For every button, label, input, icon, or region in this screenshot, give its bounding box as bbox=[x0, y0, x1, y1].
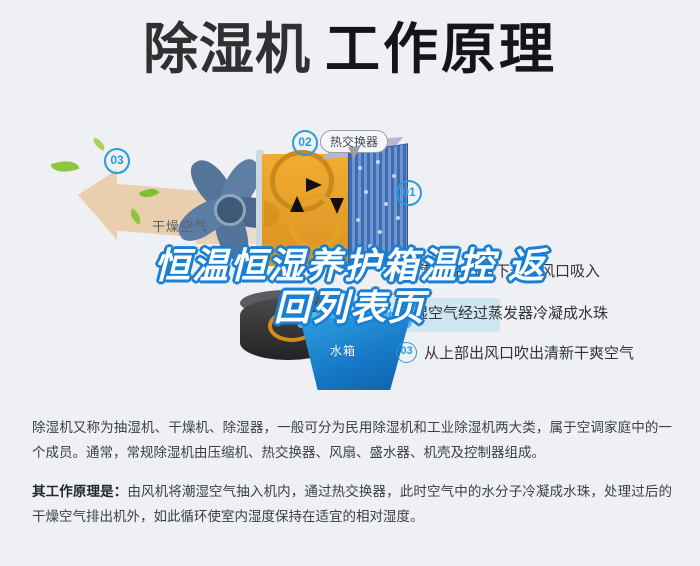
legend-number-02: 02 bbox=[370, 302, 391, 323]
paragraph-definition: 除湿机又称为抽湿机、干燥机、除湿器，一般可分为民用除湿机和工业除湿机两大类，属于… bbox=[32, 415, 672, 465]
paragraph-principle-lead: 其工作原理是： bbox=[32, 484, 127, 499]
legend-item-01: 01 潮湿空气由下部进风口吸入 bbox=[392, 260, 600, 281]
article-body: 除湿机又称为抽湿机、干燥机、除湿器，一般可分为民用除湿机和工业除湿机两大类，属于… bbox=[32, 415, 672, 529]
process-legend: 01 潮湿空气由下部进风口吸入 02 潮湿空气经过蒸发器冷凝成水珠 03 从上部… bbox=[0, 120, 700, 390]
page-title: 除湿机工作原理 bbox=[0, 22, 700, 77]
paragraph-principle: 其工作原理是：由风机将潮湿空气抽入机内，通过热交换器，此时空气中的水分子冷凝成水… bbox=[32, 479, 672, 529]
title-part-principle: 工作原理 bbox=[325, 18, 557, 80]
legend-text-02: 潮湿空气经过蒸发器冷凝成水珠 bbox=[398, 302, 608, 323]
legend-text-01: 潮湿空气由下部进风口吸入 bbox=[420, 260, 600, 281]
paragraph-principle-rest: 由风机将潮湿空气抽入机内，通过热交换器，此时空气中的水分子冷凝成水珠，处理过后的… bbox=[32, 484, 672, 524]
legend-text-03: 从上部出风口吹出清新干爽空气 bbox=[424, 342, 634, 363]
legend-number-03: 03 bbox=[396, 342, 417, 363]
legend-number-01: 01 bbox=[392, 260, 413, 281]
legend-item-02: 02 潮湿空气经过蒸发器冷凝成水珠 bbox=[370, 302, 608, 323]
title-part-dehumidifier: 除湿机 bbox=[143, 18, 311, 80]
page-root: 除湿机工作原理 bbox=[0, 0, 700, 566]
legend-item-03: 03 从上部出风口吹出清新干爽空气 bbox=[396, 342, 634, 363]
